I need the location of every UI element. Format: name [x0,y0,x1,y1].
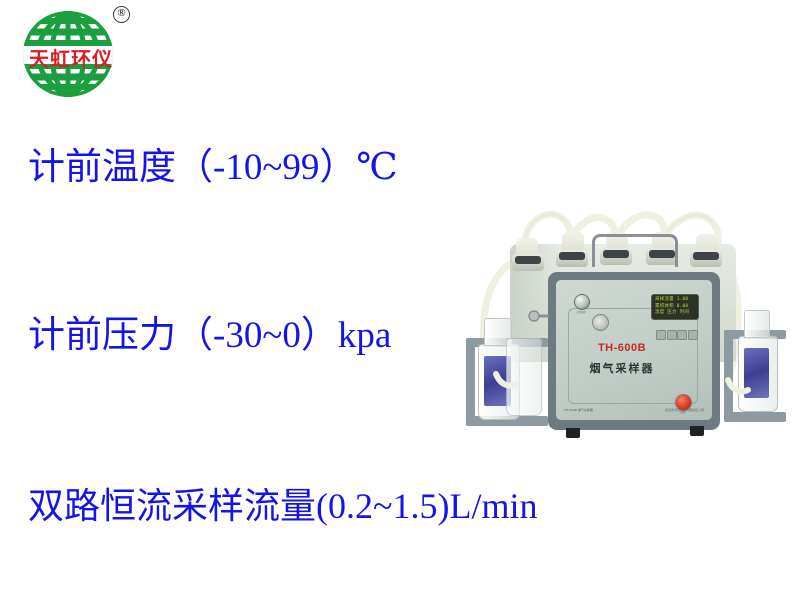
panel-fine-print: TH-600B 烟气采样器 武汉市天虹仪表有限责任公司 [564,408,704,412]
front-panel-inset [568,308,698,404]
case-foot [566,428,580,438]
bottle-bracket-left-side [466,338,475,426]
spec-line-pressure: 计前压力（-30~0）kpa [28,314,391,358]
bottle-cap-clamp [559,252,585,260]
indicator-knob[interactable] [574,294,590,310]
keypad-button[interactable] [688,330,698,340]
registered-trademark-icon: ® [113,6,130,23]
keypad-button[interactable] [667,330,677,340]
panel-print-left: TH-600B 烟气采样器 [564,408,593,412]
panel-print-right: 武汉市天虹仪表有限责任公司 [665,408,704,412]
slide-canvas: 天虹环仪 ® 计前温度（-10~99）℃ 计前压力（-30~0）kpa 双路恒流… [0,0,800,600]
silica-gel-right [744,348,769,398]
bottle-bracket-right-bottom [724,412,786,422]
logo-brand-text: 天虹环仪 [22,48,120,70]
spec-line-flow-rate: 双路恒流采样流量(0.2~1.5)L/min [28,484,537,528]
globe-emblem: 天虹环仪 [16,10,120,98]
brand-emblem-icon [592,314,609,331]
indicator-knob-label: 工作指示 [570,310,592,314]
bottle-cap-clamp [515,256,541,264]
case-foot [690,426,704,436]
lcd-display: 采样流量 1.00 累积体积 0.00 温度 压力 时间 [651,294,699,320]
keypad-button[interactable] [677,330,687,340]
bottle-neck-right [744,310,770,338]
spec-line-temperature: 计前温度（-10~99）℃ [28,146,398,190]
carry-handle[interactable] [592,234,678,267]
keypad[interactable] [656,330,698,338]
keypad-button[interactable] [656,330,666,340]
bottle-bracket-right-side [724,330,733,422]
lcd-line-3: 温度 压力 时间 [655,310,695,317]
model-number-label: TH-600B [572,342,672,354]
absorption-bottle-left-rear [506,338,542,416]
bottle-cap-clamp [693,252,719,260]
device-photo-th600b: 工作指示 采样流量 1.00 累积体积 0.00 温度 压力 时间 TH-600… [452,198,796,456]
company-logo: 天虹环仪 ® [12,4,144,102]
device-name-label: 烟气采样器 [572,360,672,376]
